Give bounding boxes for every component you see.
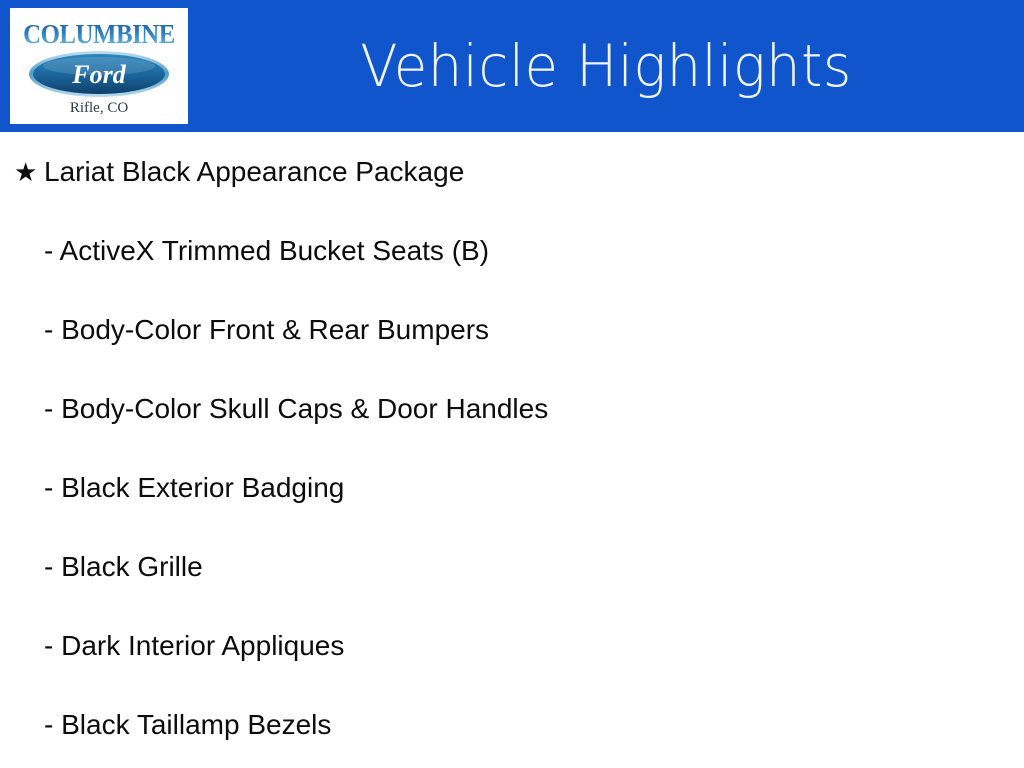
list-item-label: - Black Taillamp Bezels [44,709,331,741]
list-item-label: - Black Exterior Badging [44,472,344,504]
star-bullet-icon: ★ [14,159,44,185]
list-item: ★ Lariat Black Appearance Package [0,132,1024,211]
svg-text:Ford: Ford [71,60,126,89]
list-item: - Black Grille [0,527,1024,606]
list-item-label: - Dark Interior Appliques [44,630,344,662]
dealer-wordmark: COLUMBINE [17,21,181,48]
list-item-label: - ActiveX Trimmed Bucket Seats (B) [44,235,489,267]
highlights-list: ★ Lariat Black Appearance Package - Acti… [0,132,1024,764]
list-item-label: - Body-Color Skull Caps & Door Handles [44,393,548,425]
slide-canvas: COLUMBINE [0,0,1024,768]
list-item: - Body-Color Skull Caps & Door Handles [0,369,1024,448]
list-item: - ActiveX Trimmed Bucket Seats (B) [0,211,1024,290]
list-item-label: Lariat Black Appearance Package [44,156,464,188]
list-item-label: - Body-Color Front & Rear Bumpers [44,314,489,346]
list-item: - Dark Interior Appliques [0,606,1024,685]
dealer-logo: COLUMBINE [10,8,188,124]
ford-oval-icon: Ford [28,50,170,98]
list-item: - Black Taillamp Bezels [0,685,1024,764]
list-item: - Body-Color Front & Rear Bumpers [0,290,1024,369]
list-item-label: - Black Grille [44,551,203,583]
dealer-city: Rifle, CO [10,101,188,116]
list-item: - Black Exterior Badging [0,448,1024,527]
page-title: Vehicle Highlights [213,0,999,132]
